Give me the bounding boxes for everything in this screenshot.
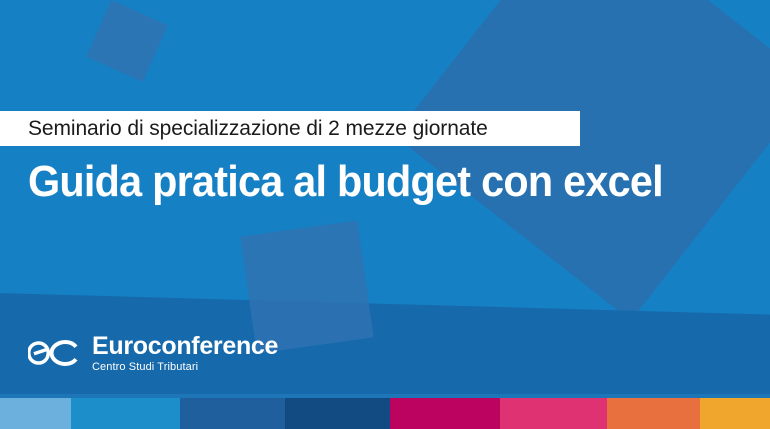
color-segment-light-blue (0, 398, 71, 429)
color-segment-pink (500, 398, 607, 429)
subtitle-text: Seminario di specializzazione di 2 mezze… (0, 117, 488, 141)
color-segment-orange (607, 398, 700, 429)
color-segment-magenta (390, 398, 500, 429)
logo-wordmark: Euroconference Centro Studi Tributari (92, 334, 278, 373)
color-segment-blue (180, 398, 285, 429)
color-segment-yellow (700, 398, 770, 429)
logo-name: Euroconference (92, 334, 278, 359)
color-segment-azure (71, 398, 180, 429)
color-segment-navy (285, 398, 390, 429)
promo-banner: Seminario di specializzazione di 2 mezze… (0, 0, 770, 429)
euroconference-logo: Euroconference Centro Studi Tributari (28, 333, 278, 373)
bottom-color-bar (0, 398, 770, 429)
subtitle-band: Seminario di specializzazione di 2 mezze… (0, 111, 580, 146)
page-title: Guida pratica al budget con excel (28, 157, 663, 207)
logo-tagline: Centro Studi Tributari (92, 362, 278, 373)
decorative-square-small (86, 0, 168, 82)
ec-monogram-icon (28, 333, 82, 373)
